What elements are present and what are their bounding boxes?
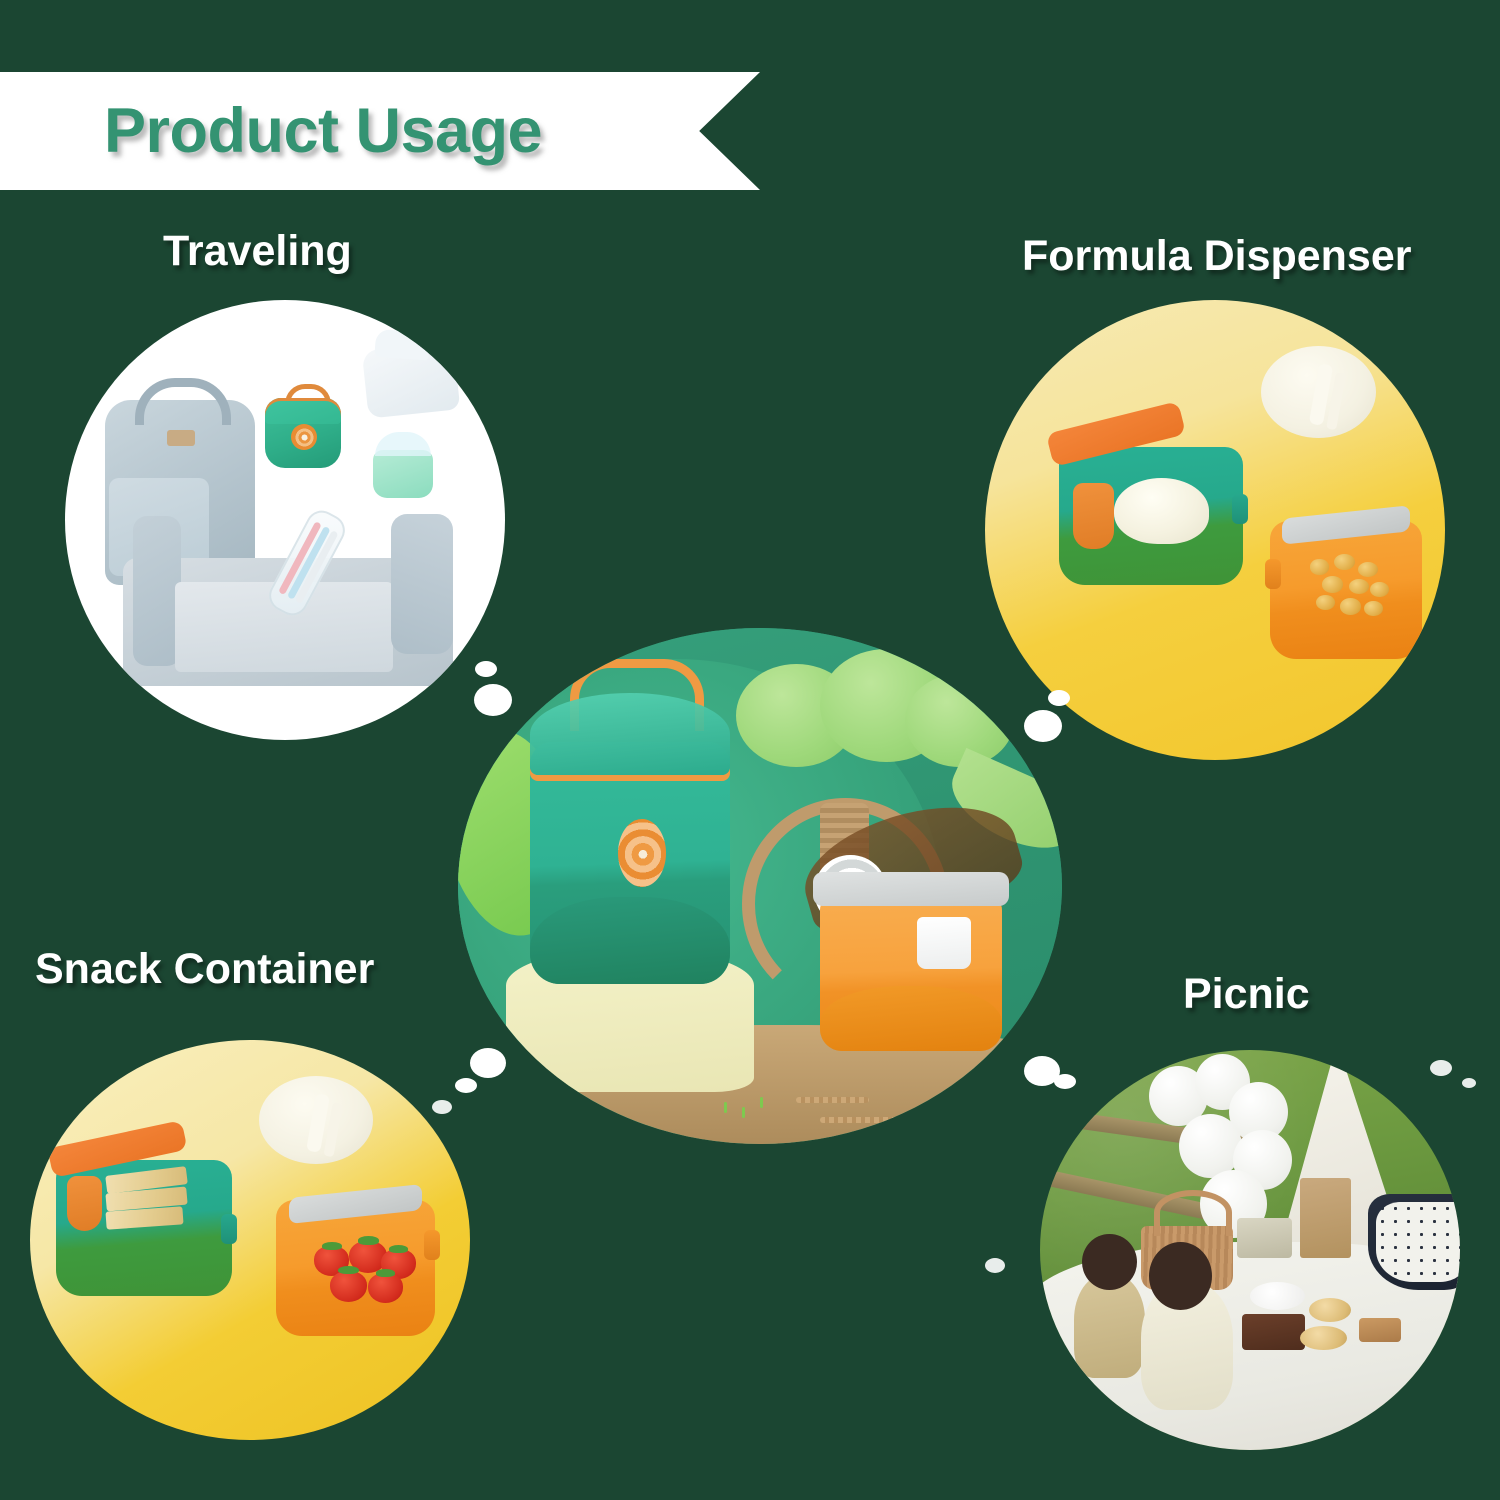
baby-wipes-pack [362,341,461,418]
bread [1309,1298,1351,1322]
bread [1300,1326,1346,1350]
orange-formula-container [820,896,1001,1051]
grass-tuft [760,1097,763,1108]
accent-dot [432,1100,452,1114]
connector-dot-hero-to-snack [455,1078,477,1093]
nut [1349,579,1369,594]
orange-divider [67,1176,102,1230]
snail-latch-icon [291,424,317,450]
orange-snack-box [276,1200,434,1336]
connector-dot-hero-to-formula [1048,690,1070,706]
retro-radio [1237,1218,1292,1258]
box-latch [1232,494,1248,524]
nut [1316,595,1336,610]
accent-dot [1462,1078,1476,1088]
grey-inner-lid [813,872,1009,906]
hero-scene [458,628,1062,1144]
child-right-head [1149,1242,1212,1310]
photo-snack-container [30,1040,470,1440]
polka-dot-cloth [1376,1202,1460,1282]
green-formula-box [1059,447,1243,585]
formula-scoop [1073,483,1113,549]
strawberry [330,1271,366,1302]
bottle-warmer [373,450,433,498]
grass-tuft [742,1107,745,1118]
round-lid-with-spoon [1261,346,1376,438]
nut [1340,598,1361,615]
hero-product-photo [458,628,1062,1144]
wooden-stick [796,1097,868,1103]
child-left-head [1082,1234,1137,1290]
header-ribbon: Product Usage [0,72,760,190]
accent-dot [985,1258,1005,1273]
connector-dot-hero-to-formula [1024,710,1062,742]
section-label-snack-container: Snack Container [35,945,374,994]
transparent-dome-lid [530,693,729,775]
bassinet-left-panel [133,516,181,666]
traveling-scene [65,300,505,740]
nut [1358,562,1378,577]
paper-bag [1300,1178,1350,1258]
container-wave-base [530,897,729,984]
orange-box-latch [424,1230,440,1260]
page-title: Product Usage [104,95,542,167]
connector-dot-hero-to-traveling [474,684,512,716]
strawberry [368,1273,403,1303]
picnic-scene [1040,1050,1460,1450]
white-scoop-cup [917,917,971,969]
connector-dot-hero-to-snack [470,1048,506,1078]
food-plate [1250,1282,1305,1310]
bassinet-right-panel [391,514,453,654]
cheese-board [1359,1318,1401,1342]
connector-dot-hero-to-picnic [1054,1074,1076,1089]
box-latch [221,1214,237,1244]
wooden-stick [820,1117,905,1123]
nut [1322,576,1343,593]
balloon [1179,1114,1242,1178]
container-wave-base [820,986,1001,1051]
teal-formula-container [530,742,729,985]
grass-tuft [724,1102,727,1113]
photo-traveling [65,300,505,740]
orange-box-latch [1265,559,1281,589]
nut [1334,554,1355,571]
nut [1364,601,1382,616]
nut [1310,559,1330,574]
milk-powder [1114,478,1210,544]
green-formula-container [265,398,341,468]
snack-container-scene [30,1040,470,1440]
backpack-brand-tag [167,430,195,446]
accent-dot [1430,1060,1452,1076]
snail-latch-icon [618,819,666,887]
photo-picnic [1040,1050,1460,1450]
green-snack-box [56,1160,232,1296]
tree-foliage [905,674,1014,767]
orange-snack-box [1270,521,1422,659]
section-label-traveling: Traveling [163,227,352,276]
nut [1370,582,1388,597]
round-lid-with-spoon [259,1076,373,1164]
wooden-tray [1242,1314,1305,1350]
section-label-formula-dispenser: Formula Dispenser [1022,232,1412,281]
section-label-picnic: Picnic [1183,970,1310,1019]
connector-dot-hero-to-traveling [475,661,497,677]
container-lid [265,398,341,424]
